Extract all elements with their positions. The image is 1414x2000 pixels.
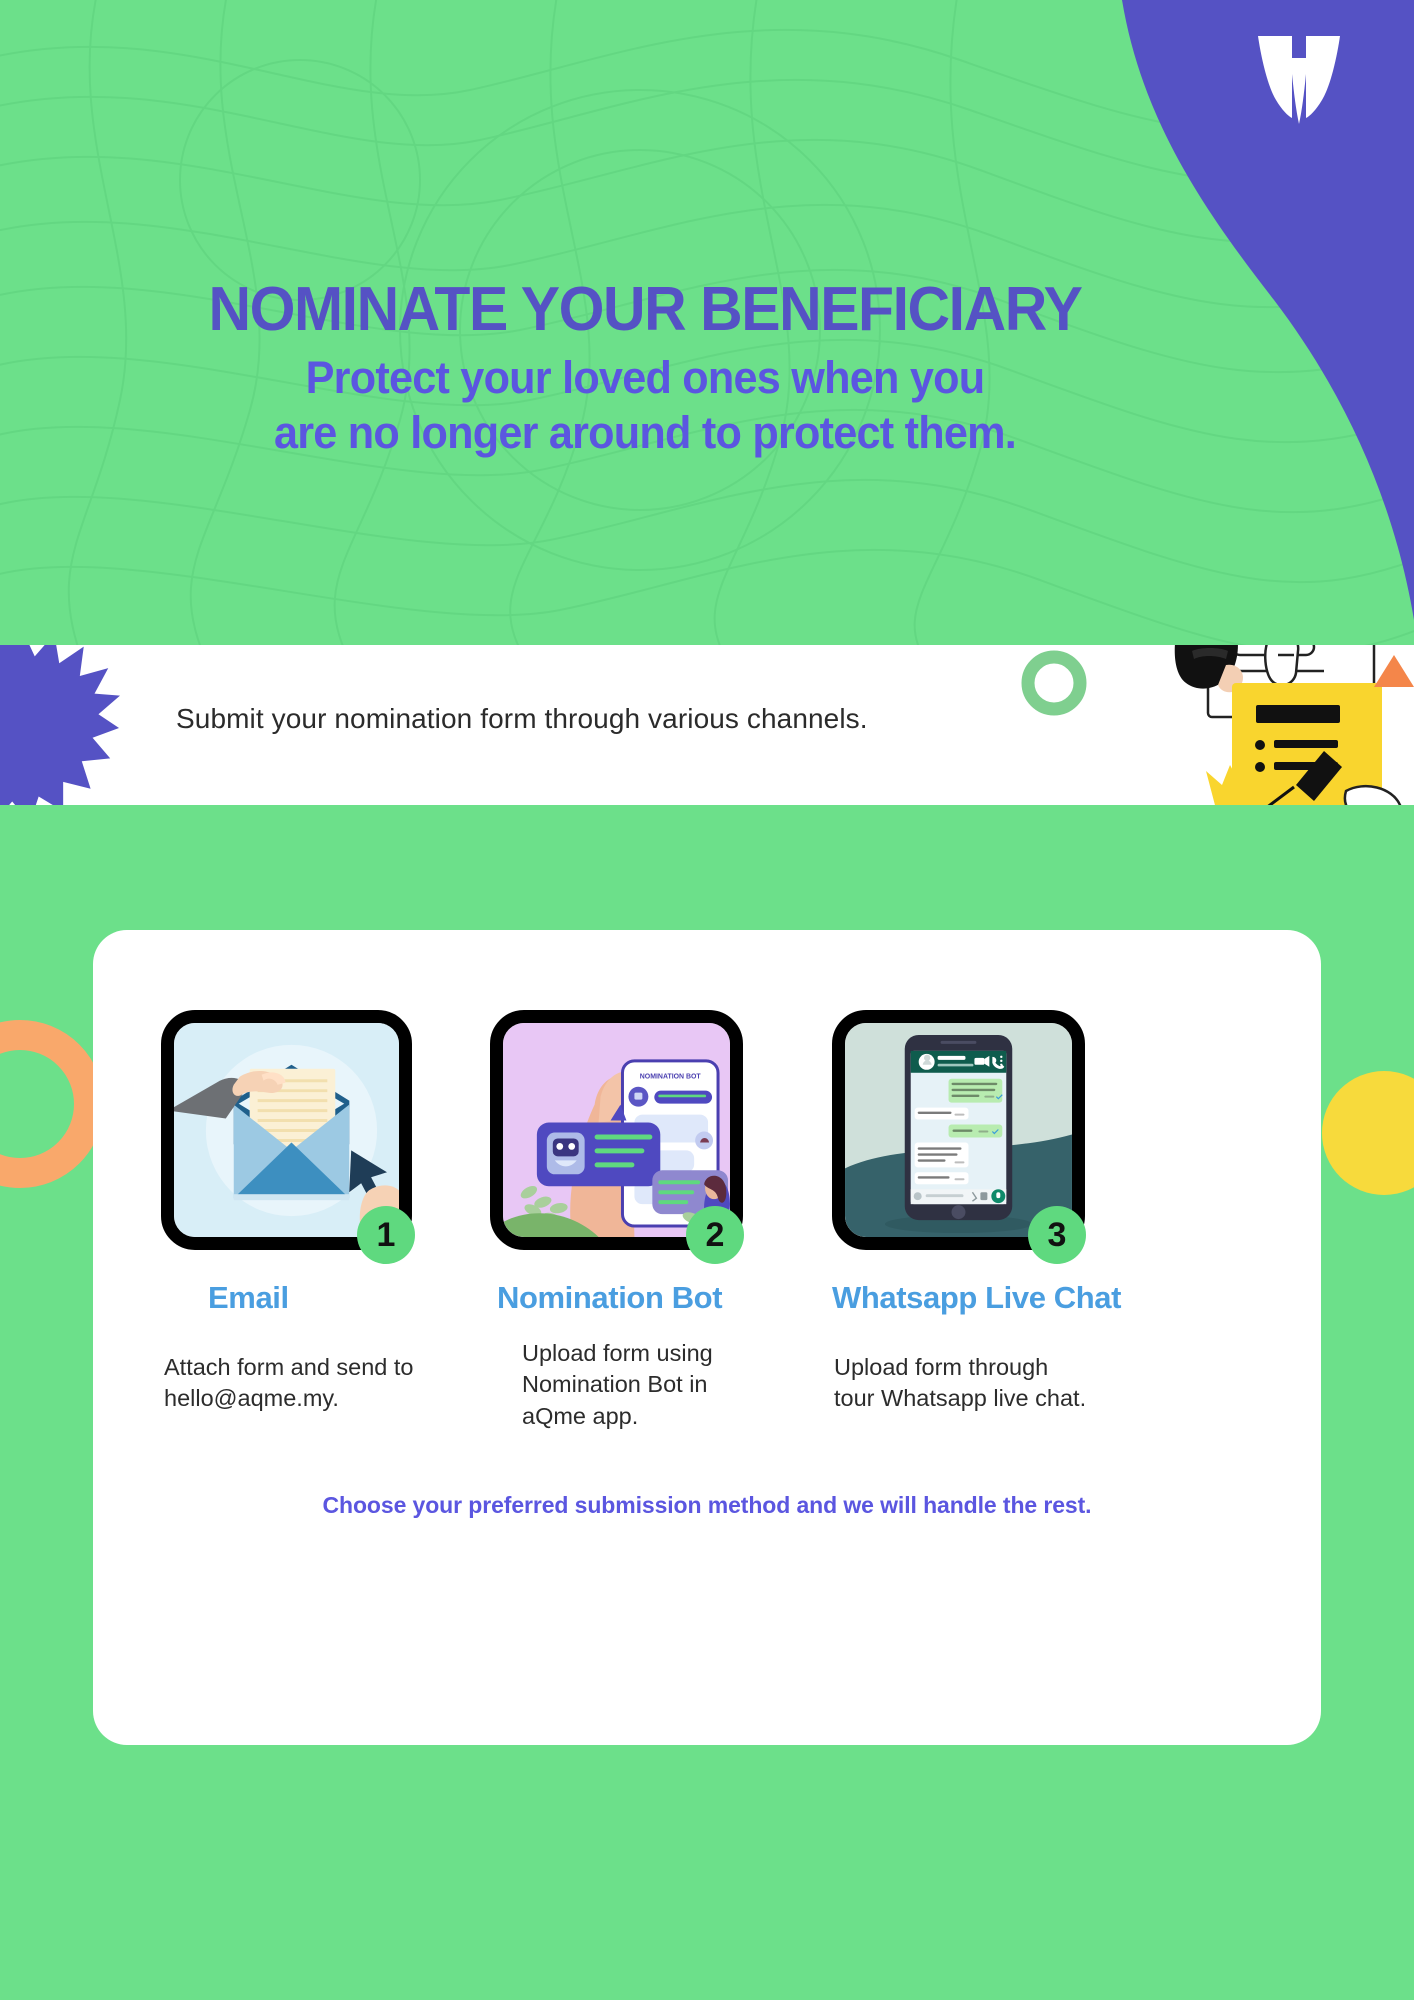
- whatsapp-input-placeholder: [926, 1194, 964, 1197]
- step-badge-3: 3: [1028, 1206, 1086, 1264]
- banner-strip: Submit your nomination form through vari…: [0, 645, 1414, 805]
- phone-header-label: NOMINATION BOT: [640, 1074, 702, 1081]
- step-badge-2: 2: [686, 1206, 744, 1264]
- channel-description-whatsapp: Upload form through tour Whatsapp live c…: [834, 1352, 1086, 1415]
- channel-column-nomination-bot[interactable]: NOMINATION BOT: [489, 930, 829, 1230]
- title-block: NOMINATE YOUR BENEFICIARY Protect your l…: [0, 278, 1290, 461]
- starburst-icon: [0, 645, 122, 805]
- yellow-dot-decoration: [1322, 1071, 1414, 1195]
- channels-card: 1 Email Attach form and send to hello@aq…: [93, 930, 1321, 1745]
- hand-holding-shape: [1265, 645, 1298, 685]
- open-envelope-letter-cursor-illustration: [174, 1023, 399, 1237]
- aqme-logo-icon: [1244, 28, 1354, 138]
- step-badge-1: 1: [357, 1206, 415, 1264]
- page-subtitle: Protect your loved ones when you are no …: [26, 351, 1264, 461]
- channel-column-email[interactable]: 1 Email Attach form and send to hello@aq…: [161, 930, 491, 1230]
- green-ring-shape: [1028, 657, 1080, 709]
- banner-text: Submit your nomination form through vari…: [176, 703, 868, 735]
- channel-title-whatsapp: Whatsapp Live Chat: [832, 1280, 1121, 1316]
- orange-ring-decoration: [0, 1020, 104, 1188]
- whatsapp-contact-status: [938, 1064, 974, 1067]
- header-section: NOMINATE YOUR BENEFICIARY Protect your l…: [0, 0, 1414, 645]
- subtitle-line-1: Protect your loved ones when you: [26, 351, 1264, 406]
- desk-work-sync-illustration: ×□: [994, 645, 1414, 805]
- footnote-text: Choose your preferred submission method …: [93, 1492, 1321, 1519]
- channel-column-whatsapp[interactable]: 3 Whatsapp Live Chat Upload form through…: [832, 930, 1177, 1230]
- channel-description-nomination-bot: Upload form using Nomination Bot in aQme…: [522, 1338, 713, 1432]
- hand-phone-chatbot-illustration: NOMINATION BOT: [503, 1023, 730, 1237]
- channel-description-email: Attach form and send to hello@aqme.my.: [164, 1352, 414, 1415]
- page-title: NOMINATE YOUR BENEFICIARY: [32, 278, 1258, 341]
- body-section: 1 Email Attach form and send to hello@aq…: [0, 805, 1414, 2000]
- channel-title-nomination-bot: Nomination Bot: [497, 1280, 722, 1316]
- channel-title-email: Email: [208, 1280, 289, 1316]
- whatsapp-phone-chat-illustration: [845, 1023, 1072, 1237]
- whatsapp-contact-name: [938, 1056, 966, 1060]
- subtitle-line-2: are no longer around to protect them.: [26, 406, 1264, 461]
